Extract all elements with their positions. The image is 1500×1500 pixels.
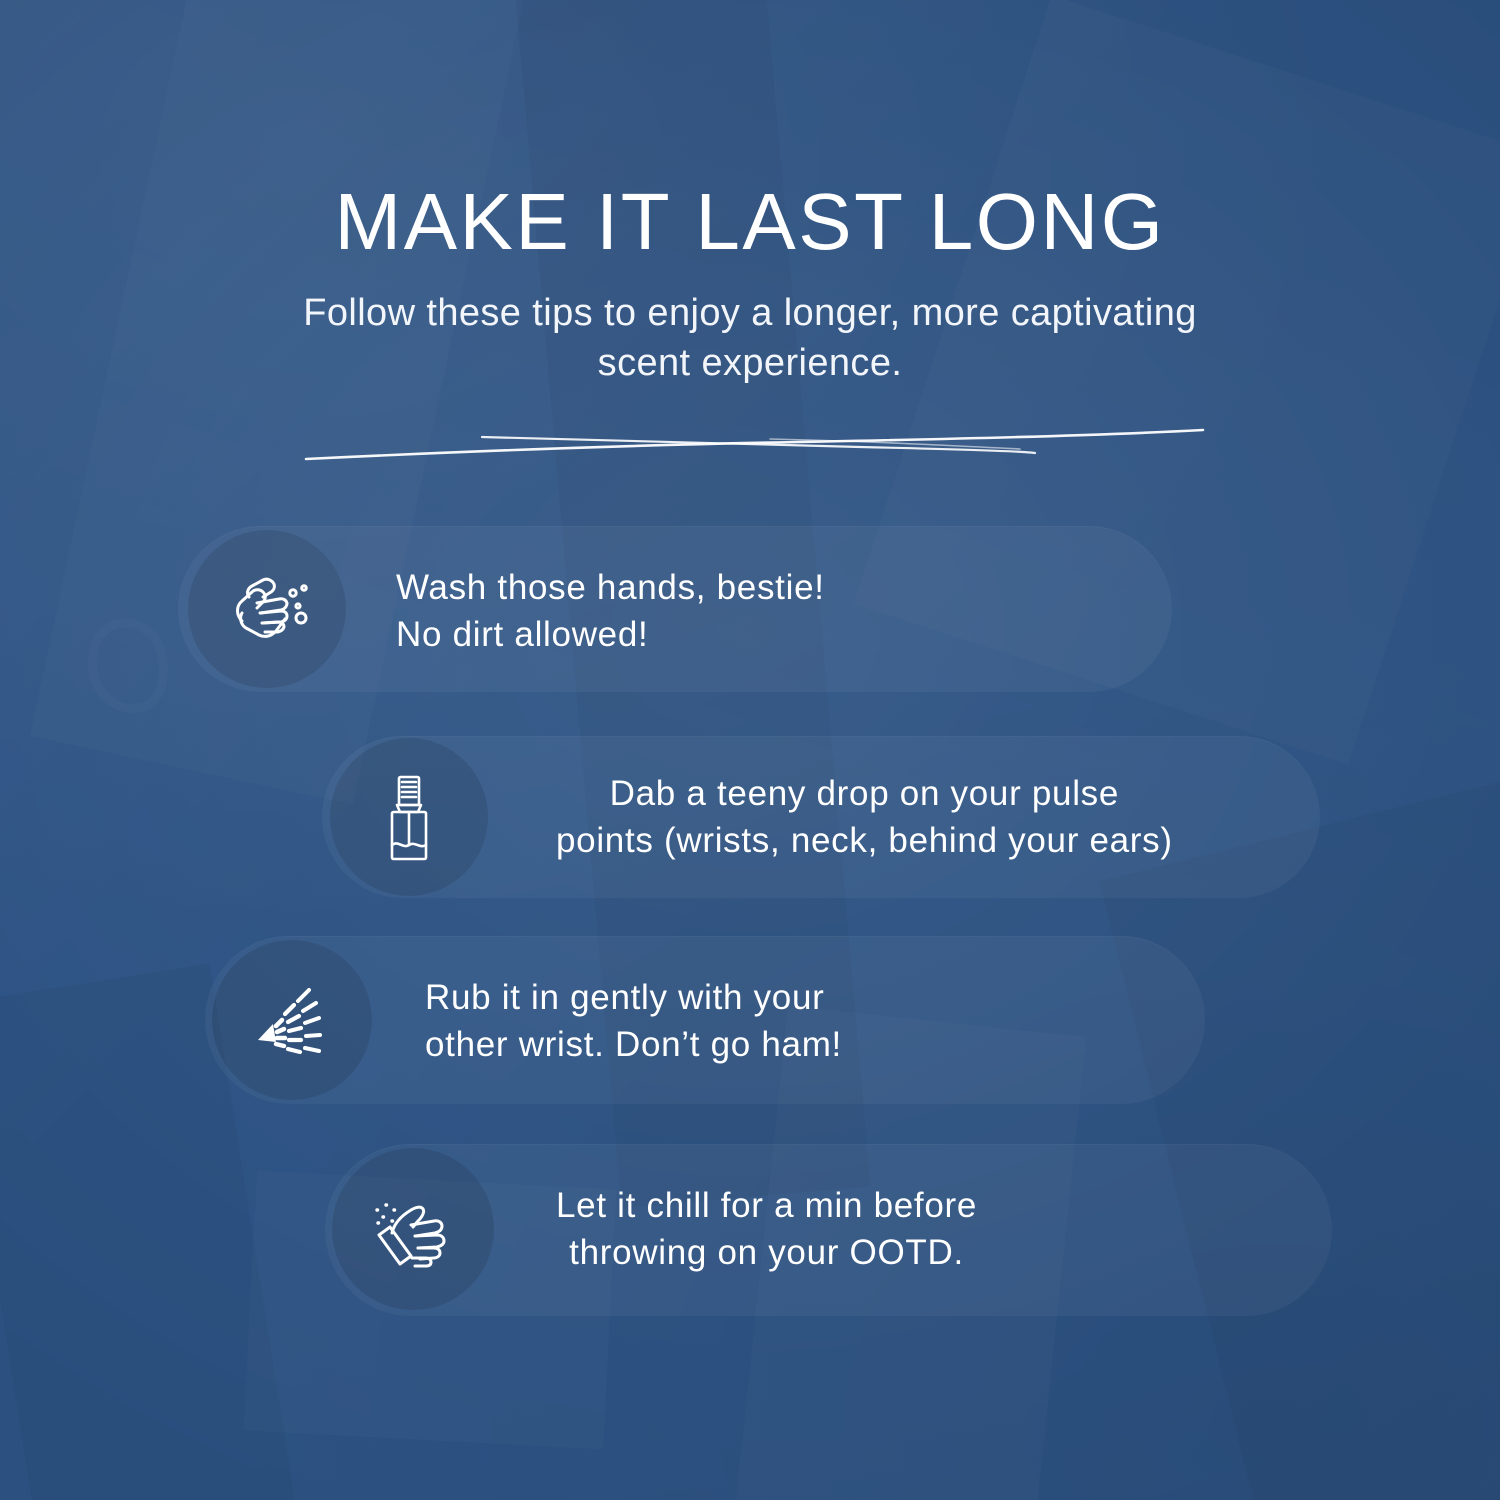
hand-sparkle-icon [363,1179,463,1279]
perfume-bottle-icon [361,769,457,865]
list-item-label: Rub it in gently with your other wrist. … [425,974,842,1068]
washing-hands-icon [219,561,315,657]
page-subtitle: Follow these tips to enjoy a longer, mor… [280,288,1220,388]
page-title: MAKE IT LAST LONG [0,178,1500,266]
divider [300,412,1210,474]
list-item-label: Let it chill for a min before throwing o… [556,1182,977,1276]
header: MAKE IT LAST LONG Follow these tips to e… [0,178,1500,388]
tip-icon-container [188,530,346,688]
poster-canvas: MAKE IT LAST LONG Follow these tips to e… [0,0,1500,1500]
tip-icon-container [212,940,372,1100]
spray-mist-icon [242,970,342,1070]
tip-icon-container [332,1148,494,1310]
list-item-label: Dab a teeny drop on your pulse points (w… [556,770,1173,864]
tip-icon-container [330,738,488,896]
hand-drawn-divider-icon [300,412,1210,474]
list-item-label: Wash those hands, bestie! No dirt allowe… [396,564,825,658]
